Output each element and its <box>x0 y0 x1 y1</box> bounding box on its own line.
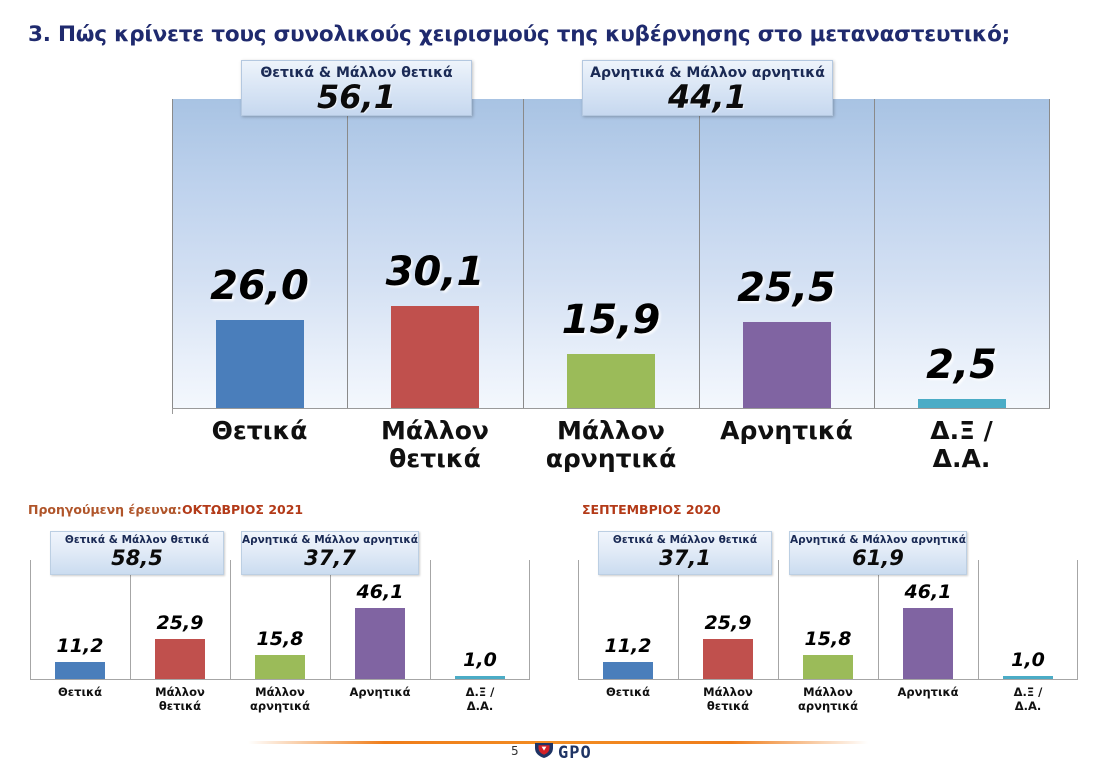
category-label-dk-da: Δ.Ξ / Δ.Α. <box>455 686 505 714</box>
bar-value-label: 15,9 <box>562 297 661 343</box>
category-label-rather-negative: Μάλλον αρνητικά <box>250 686 310 714</box>
category-label-negative: Αρνητικά <box>349 686 410 700</box>
gpo-logo-text: GPO <box>558 743 592 763</box>
previous-chart-september-2020: 11,2 Θετικά 25,9 Μάλλον θετικά 15,8 Μάλλ… <box>578 560 1078 680</box>
small-chart-column: 25,9 Μάλλον θετικά <box>130 560 230 680</box>
previous-chart-october-2021: 11,2 Θετικά 25,9 Μάλλον θετικά 15,8 Μάλλ… <box>30 560 530 680</box>
bar-dk-da <box>918 399 1006 408</box>
previous-survey-date-september: ΣΕΠΤΕΜΒΡΙΟΣ 2020 <box>582 502 721 517</box>
small-chart-column: 25,9 Μάλλον θετικά <box>678 560 778 680</box>
bar-value-label: 26,0 <box>210 263 309 309</box>
gpo-mark-icon <box>534 742 554 763</box>
summary-box-label: Αρνητικά & Μάλλον αρνητικά <box>790 532 966 547</box>
summary-box-value: 37,1 <box>599 547 771 569</box>
small-chart-column: 15,8 Μάλλον αρνητικά <box>778 560 878 680</box>
bar-positive <box>216 320 304 408</box>
bar-value-label: 46,1 <box>905 581 952 603</box>
main-chart-column: 2,5 Δ.Ξ / Δ.Α. <box>874 99 1049 409</box>
main-chart-column: 26,0 Θετικά <box>172 99 347 409</box>
small-chart-column: 11,2 Θετικά <box>578 560 678 680</box>
bar-negative <box>355 608 405 679</box>
bar-value-label: 1,0 <box>463 649 497 671</box>
summary-box-value: 37,7 <box>242 547 418 569</box>
bar-value-label: 11,2 <box>605 635 652 657</box>
category-label-negative: Αρνητικά <box>897 686 958 700</box>
bar-rather-negative <box>803 655 853 679</box>
category-label-positive: Θετικά <box>606 686 650 700</box>
bar-negative <box>903 608 953 679</box>
small-chart-column: 46,1 Αρνητικά <box>330 560 430 680</box>
summary-box-positive-value: 56,1 <box>242 81 471 115</box>
category-label-rather-positive: Μάλλον θετικά <box>703 686 753 714</box>
bar-dk-da <box>1003 676 1053 679</box>
small-chart-column: 1,0 Δ.Ξ / Δ.Α. <box>978 560 1078 680</box>
summary-box-value: 58,5 <box>51 547 223 569</box>
bar-rather-positive <box>391 306 479 408</box>
bar-value-label: 25,5 <box>737 265 836 311</box>
bar-positive <box>603 662 653 679</box>
bar-value-label: 30,1 <box>386 249 485 295</box>
category-label-positive: Θετικά <box>212 417 308 445</box>
bar-value-label: 25,9 <box>157 612 204 634</box>
bar-rather-positive <box>703 639 753 679</box>
main-chart-column: 15,9 Μάλλον αρνητικά <box>523 99 699 409</box>
previous-survey-date-october: ΟΚΤΩΒΡΙΟΣ 2021 <box>182 502 303 517</box>
small-chart-column: 1,0 Δ.Ξ / Δ.Α. <box>430 560 530 680</box>
bar-value-label: 25,9 <box>705 612 752 634</box>
gpo-logo: GPO <box>534 742 592 763</box>
summary-box-label: Θετικά & Μάλλον θετικά <box>51 532 223 547</box>
bar-dk-da <box>455 676 505 679</box>
bar-positive <box>55 662 105 679</box>
category-label-positive: Θετικά <box>58 686 102 700</box>
small-chart-column: 46,1 Αρνητικά <box>878 560 978 680</box>
category-label-rather-positive: Μάλλον θετικά <box>155 686 205 714</box>
category-label-dk-da: Δ.Ξ / Δ.Α. <box>918 417 1006 473</box>
bar-value-label: 15,8 <box>257 628 304 650</box>
category-label-rather-negative: Μάλλον αρνητικά <box>798 686 858 714</box>
main-chart-column: 30,1 Μάλλον θετικά <box>347 99 523 409</box>
summary-box-negative-september: Αρνητικά & Μάλλον αρνητικά 61,9 <box>789 531 967 575</box>
main-chart-column: 25,5 Αρνητικά <box>699 99 874 409</box>
summary-box-label: Θετικά & Μάλλον θετικά <box>599 532 771 547</box>
bar-value-label: 1,0 <box>1011 649 1045 671</box>
summary-box-negative-value: 44,1 <box>583 81 832 115</box>
summary-box-negative: Αρνητικά & Μάλλον αρνητικά 44,1 <box>582 60 833 116</box>
bar-rather-negative <box>255 655 305 679</box>
bar-value-label: 2,5 <box>926 342 997 388</box>
bar-value-label: 11,2 <box>57 635 104 657</box>
summary-box-value: 61,9 <box>790 547 966 569</box>
small-chart-column: 11,2 Θετικά <box>30 560 130 680</box>
category-label-negative: Αρνητικά <box>720 417 853 445</box>
summary-box-label: Αρνητικά & Μάλλον αρνητικά <box>242 532 418 547</box>
bar-rather-negative <box>567 354 655 408</box>
small-chart-column: 15,8 Μάλλον αρνητικά <box>230 560 330 680</box>
page-number: 5 <box>511 744 519 758</box>
bar-negative <box>743 322 831 408</box>
summary-box-negative-october: Αρνητικά & Μάλλον αρνητικά 37,7 <box>241 531 419 575</box>
summary-box-positive-october: Θετικά & Μάλλον θετικά 58,5 <box>50 531 224 575</box>
bar-rather-positive <box>155 639 205 679</box>
main-chart: 26,0 Θετικά 30,1 Μάλλον θετικά 15,9 Μάλλ… <box>172 99 1050 409</box>
category-label-rather-positive: Μάλλον θετικά <box>381 417 489 473</box>
bar-value-label: 46,1 <box>357 581 404 603</box>
previous-survey-label: Προηγούμενη έρευνα: <box>28 502 182 517</box>
summary-box-positive-september: Θετικά & Μάλλον θετικά 37,1 <box>598 531 772 575</box>
summary-box-positive: Θετικά & Μάλλον θετικά 56,1 <box>241 60 472 116</box>
category-label-rather-negative: Μάλλον αρνητικά <box>546 417 677 473</box>
main-chart-gridline <box>1049 99 1050 409</box>
page-title: 3. Πώς κρίνετε τους συνολικούς χειρισμού… <box>28 22 1010 47</box>
bar-value-label: 15,8 <box>805 628 852 650</box>
category-label-dk-da: Δ.Ξ / Δ.Α. <box>1003 686 1053 714</box>
